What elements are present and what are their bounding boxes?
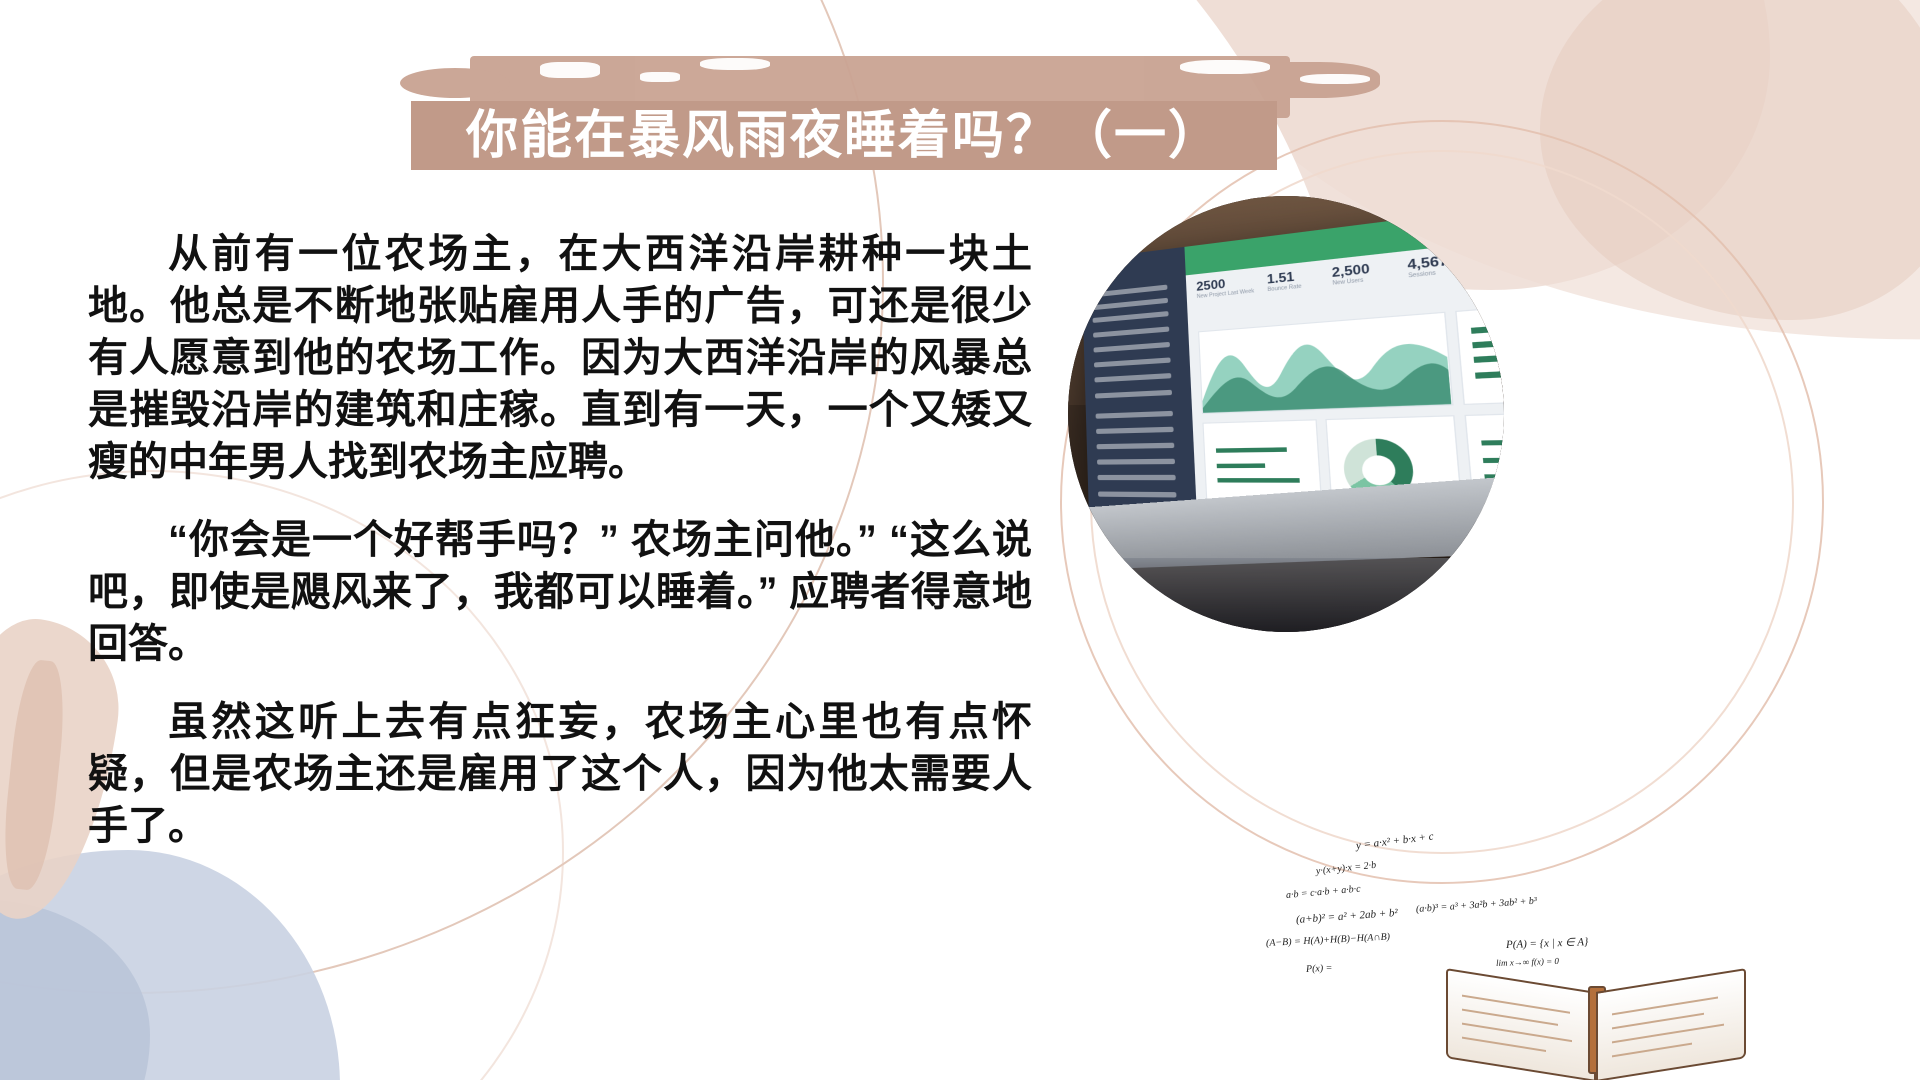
formula-line-5: (A−B) = H(A)+H(B)−H(A∩B) [1266,932,1391,949]
photo-area-chart [1199,312,1454,414]
formula-line-2: a·b = c·a·b + a·b·c [1286,883,1362,900]
photo-inner: 2500New Project Last Week 1.51Bounce Rat… [1068,196,1504,632]
brush-stroke-left-2 [0,658,70,892]
open-book-icon [1446,980,1746,1075]
formula-line-0: y = a·x² + b·x + c [1355,831,1434,852]
photo-kpi-2: 2,500New Users [1332,261,1371,287]
photo-panel-right [1456,297,1504,405]
photo-screen-sidebar [1082,247,1198,514]
book-page-right [1596,968,1746,1080]
paragraph-2: “你会是一个好帮手吗？” 农场主问他。” “这么说吧，即使是飓风来了，我都可以睡… [88,514,1032,670]
formula-line-4: (a·b)³ = a³ + 3a²b + 3ab² + b³ [1416,896,1538,915]
blob-bottom-left-2 [0,900,150,1080]
blob-bottom-left-1 [0,850,340,1080]
formula-line-6: P(A) = {x | x ∈ A} [1506,935,1589,951]
brush-chip-4 [1180,60,1270,74]
book-page-left [1446,968,1596,1080]
photo-kpi-1: 1.51Bounce Rate [1267,268,1302,293]
brush-chip-1 [540,62,600,78]
formula-line-3: (a+b)² = a² + 2ab + b² [1296,907,1399,926]
presentation-slide: 你能在暴风雨夜睡着吗？（一） 从前有一位农场主，在大西洋沿岸耕种一块土地。他总是… [0,0,1920,1080]
math-formula-book-doodle: y = a·x² + b·x + c y·(x+y)·x = 2·b a·b =… [1296,860,1856,1080]
formula-line-1: y·(x+y)·x = 2·b [1315,860,1376,877]
brush-chip-5 [1300,74,1370,84]
formula-line-7: lim x→∞ f(x) = 0 [1496,956,1559,968]
photo-kpi-4: 2,315Page Views [1489,243,1504,272]
page-title: 你能在暴风雨夜睡着吗？（一） [466,110,1222,162]
photo-area-chart-svg [1200,314,1452,414]
body-text-block: 从前有一位农场主，在大西洋沿岸耕种一块土地。他总是不断地张贴雇用人手的广告，可还… [88,228,1032,852]
slide-title-bar: 你能在暴风雨夜睡着吗？（一） [411,101,1277,170]
photo-desk-reflection [1068,558,1504,632]
photo-kpi-0: 2500New Project Last Week [1196,273,1254,300]
paragraph-1: 从前有一位农场主，在大西洋沿岸耕种一块土地。他总是不断地张贴雇用人手的广告，可还… [88,228,1032,488]
photo-kpi-3: 4,567Sessions [1407,252,1450,279]
brush-chip-2 [640,72,680,82]
blob-top-right-3 [1540,0,1920,320]
paragraph-3: 虽然这听上去有点狂妄，农场主心里也有点怀疑，但是农场主还是雇用了这个人，因为他太… [88,696,1032,852]
brush-chip-3 [700,58,770,70]
laptop-dashboard-photo: 2500New Project Last Week 1.51Bounce Rat… [1068,196,1504,632]
formula-line-8: P(x) = [1306,963,1333,975]
